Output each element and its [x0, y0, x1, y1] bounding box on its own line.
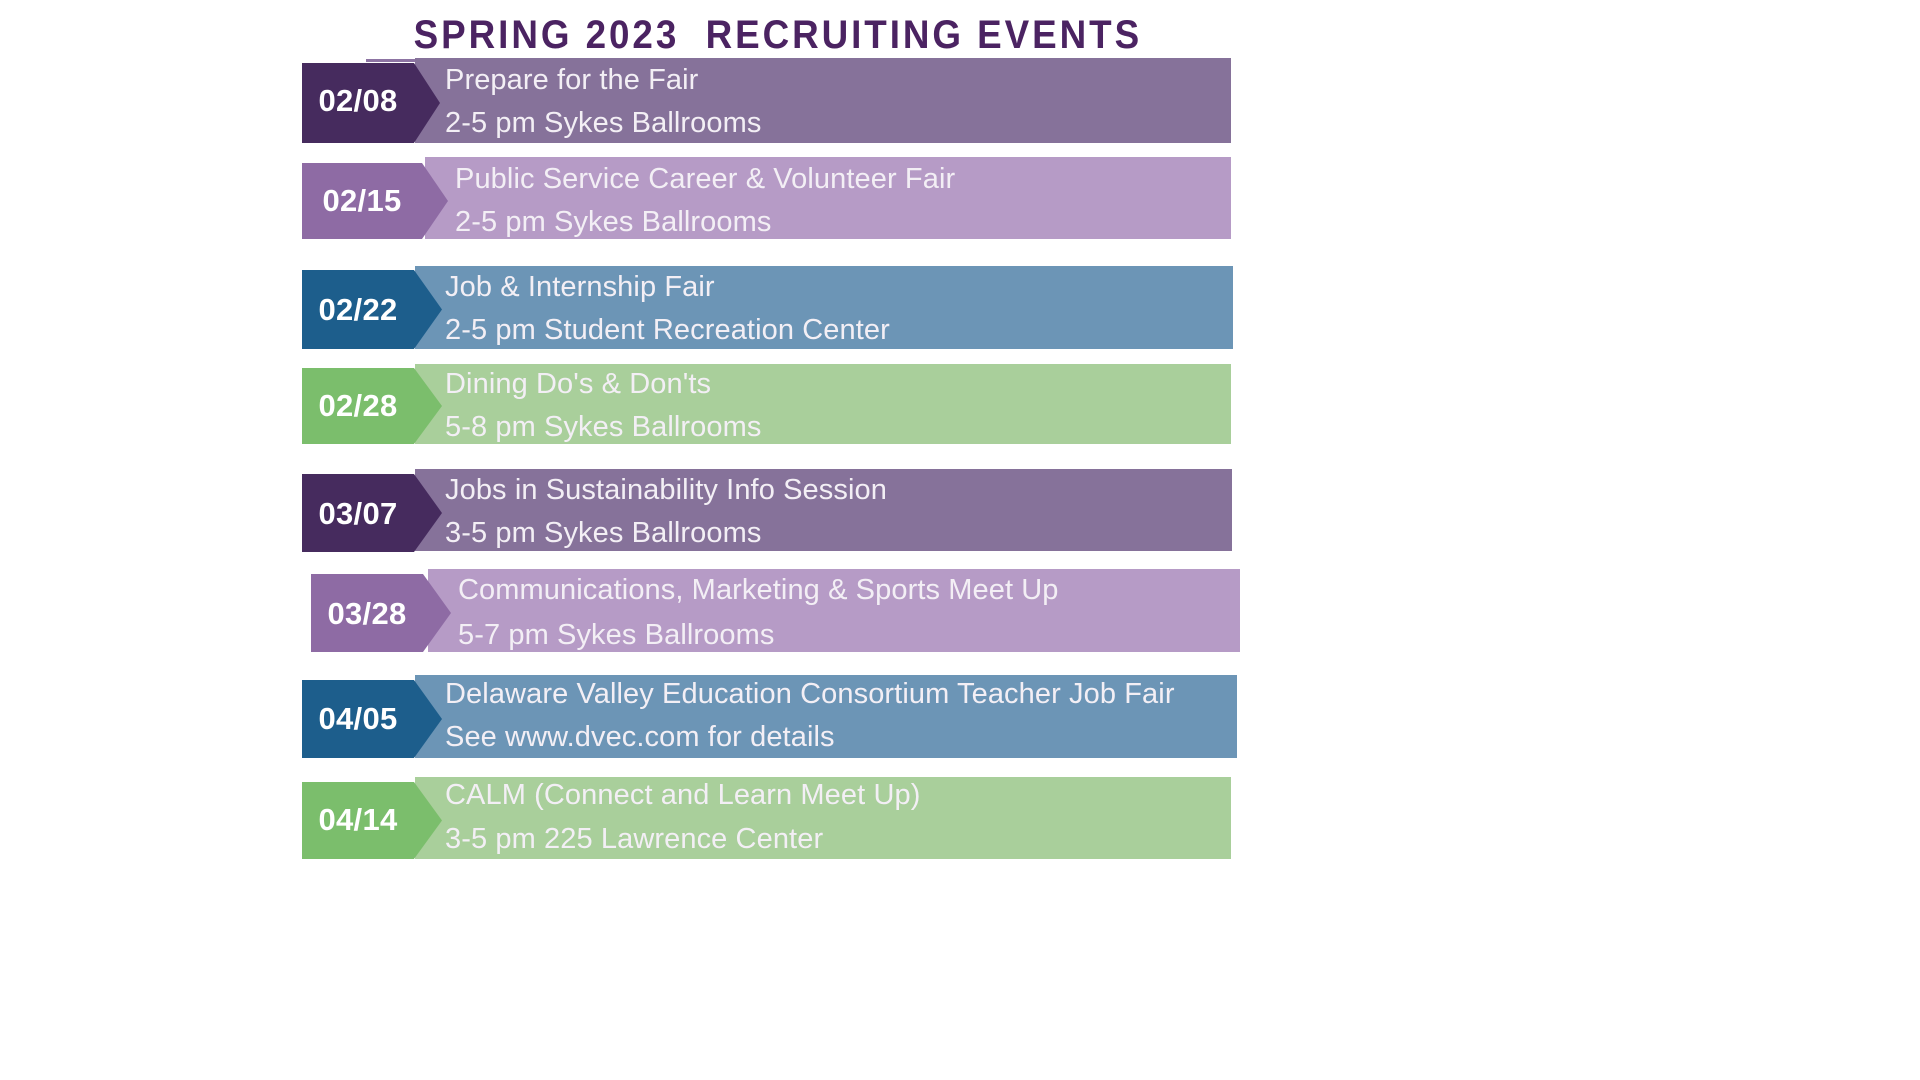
event-date-text: 02/28 [302, 390, 414, 421]
event-name: Jobs in Sustainability Info Session [445, 474, 887, 507]
events-list: Prepare for the Fair2-5 pm Sykes Ballroo… [0, 0, 1920, 1080]
event-details: 2-5 pm Student Recreation Center [445, 314, 890, 347]
event-date-badge: 04/14 [302, 782, 442, 859]
event-details: 3-5 pm Sykes Ballrooms [445, 517, 761, 550]
event-date-badge: 02/15 [302, 163, 448, 239]
event-name: Prepare for the Fair [445, 64, 698, 97]
event-details: 3-5 pm 225 Lawrence Center [445, 823, 823, 856]
event-date-badge: 03/28 [311, 574, 451, 652]
event-date-text: 02/08 [302, 85, 414, 116]
event-date-text: 02/15 [302, 185, 422, 216]
event-details: 5-7 pm Sykes Ballrooms [458, 619, 774, 652]
event-details: 2-5 pm Sykes Ballrooms [445, 107, 761, 140]
event-details: See www.dvec.com for details [445, 721, 835, 754]
event-date-text: 04/05 [302, 703, 414, 734]
event-date-badge: 04/05 [302, 680, 442, 758]
event-name: Communications, Marketing & Sports Meet … [458, 574, 1059, 607]
event-name: Delaware Valley Education Consortium Tea… [445, 678, 1175, 711]
event-name: CALM (Connect and Learn Meet Up) [445, 779, 920, 812]
event-date-badge: 02/08 [302, 63, 440, 143]
event-name: Job & Internship Fair [445, 271, 715, 304]
event-name: Dining Do's & Don'ts [445, 368, 711, 401]
event-details: 5-8 pm Sykes Ballrooms [445, 411, 761, 444]
event-details: 2-5 pm Sykes Ballrooms [455, 206, 771, 239]
event-date-badge: 03/07 [302, 474, 442, 552]
event-date-text: 02/22 [302, 294, 414, 325]
event-date-text: 04/14 [302, 804, 414, 835]
event-name: Public Service Career & Volunteer Fair [455, 163, 955, 196]
event-date-badge: 02/22 [302, 270, 442, 349]
event-date-text: 03/07 [302, 498, 414, 529]
event-date-badge: 02/28 [302, 368, 442, 444]
recruiting-events-poster: SPRING 2023 RECRUITING EVENTS Prepare fo… [0, 0, 1920, 1080]
event-date-text: 03/28 [311, 598, 423, 629]
